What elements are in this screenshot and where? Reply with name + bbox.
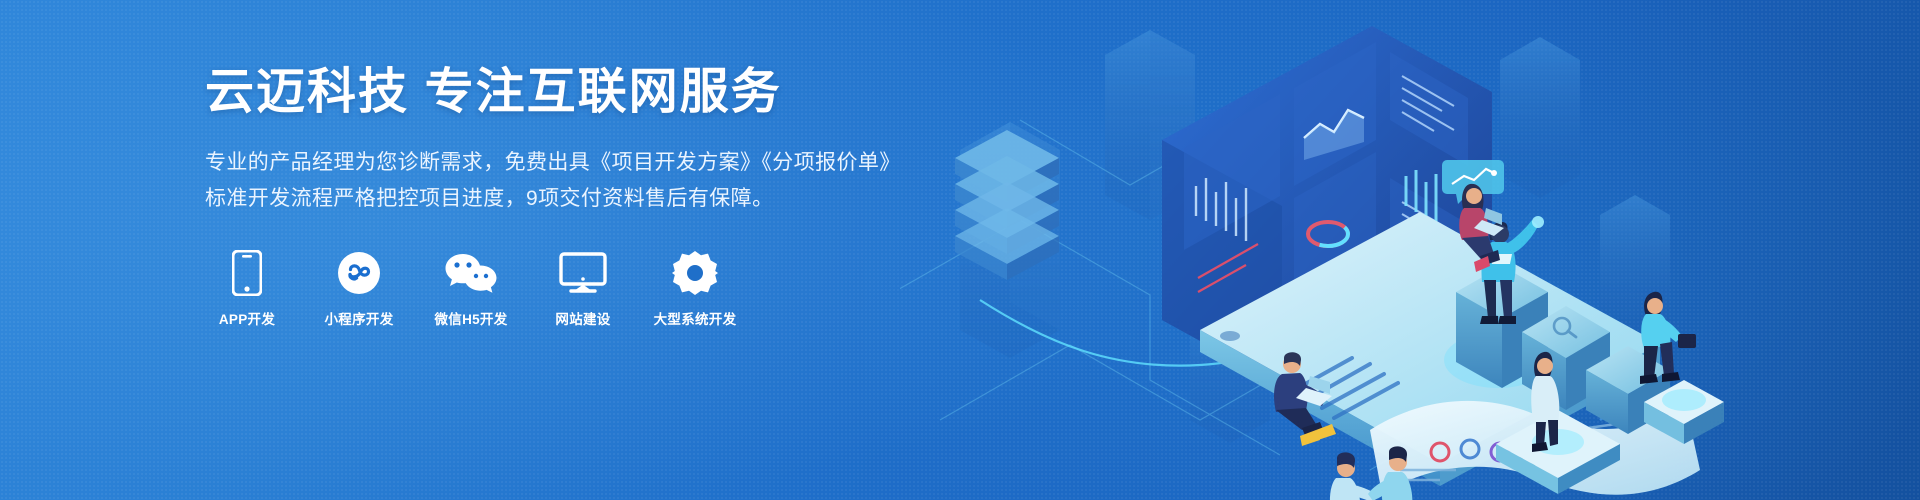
service-label-website: 网站建设 [555, 308, 610, 328]
person-pair-bottom [1330, 446, 1412, 500]
service-label-miniprogram: 小程序开发 [325, 308, 394, 328]
monitor-icon [559, 249, 607, 297]
subtitle-block: 专业的产品经理为您诊断需求，免费出具《项目开发方案》《分项报价单》 标准开发流程… [205, 145, 965, 217]
service-item-miniprogram[interactable]: 小程序开发 [317, 249, 401, 328]
service-item-wechat-h5[interactable]: 微信H5开发 [429, 249, 513, 328]
server-stack [955, 130, 1059, 280]
illustration-isometric-tech [900, 0, 1920, 500]
mobile-phone-icon [232, 249, 262, 297]
service-label-app: APP开发 [219, 308, 275, 328]
service-item-website[interactable]: 网站建设 [541, 249, 625, 328]
mini-program-icon [337, 249, 381, 297]
service-item-large-system[interactable]: 大型系统开发 [653, 249, 737, 328]
page-title: 云迈科技 专注互联网服务 [205, 62, 965, 123]
subtitle-line-1: 专业的产品经理为您诊断需求，免费出具《项目开发方案》《分项报价单》 [205, 145, 965, 181]
banner-content: 云迈科技 专注互联网服务 专业的产品经理为您诊断需求，免费出具《项目开发方案》《… [205, 62, 965, 328]
promo-banner: 云迈科技 专注互联网服务 专业的产品经理为您诊断需求，免费出具《项目开发方案》《… [0, 0, 1920, 500]
service-list: APP开发 小程序开发 [205, 249, 965, 328]
service-label-large-system: 大型系统开发 [654, 308, 737, 328]
subtitle-line-2: 标准开发流程严格把控项目进度，9项交付资料售后有保障。 [205, 181, 965, 217]
gear-icon [672, 249, 718, 297]
service-item-app[interactable]: APP开发 [205, 249, 289, 328]
wechat-icon [444, 249, 498, 297]
service-label-wechat-h5: 微信H5开发 [434, 308, 507, 328]
